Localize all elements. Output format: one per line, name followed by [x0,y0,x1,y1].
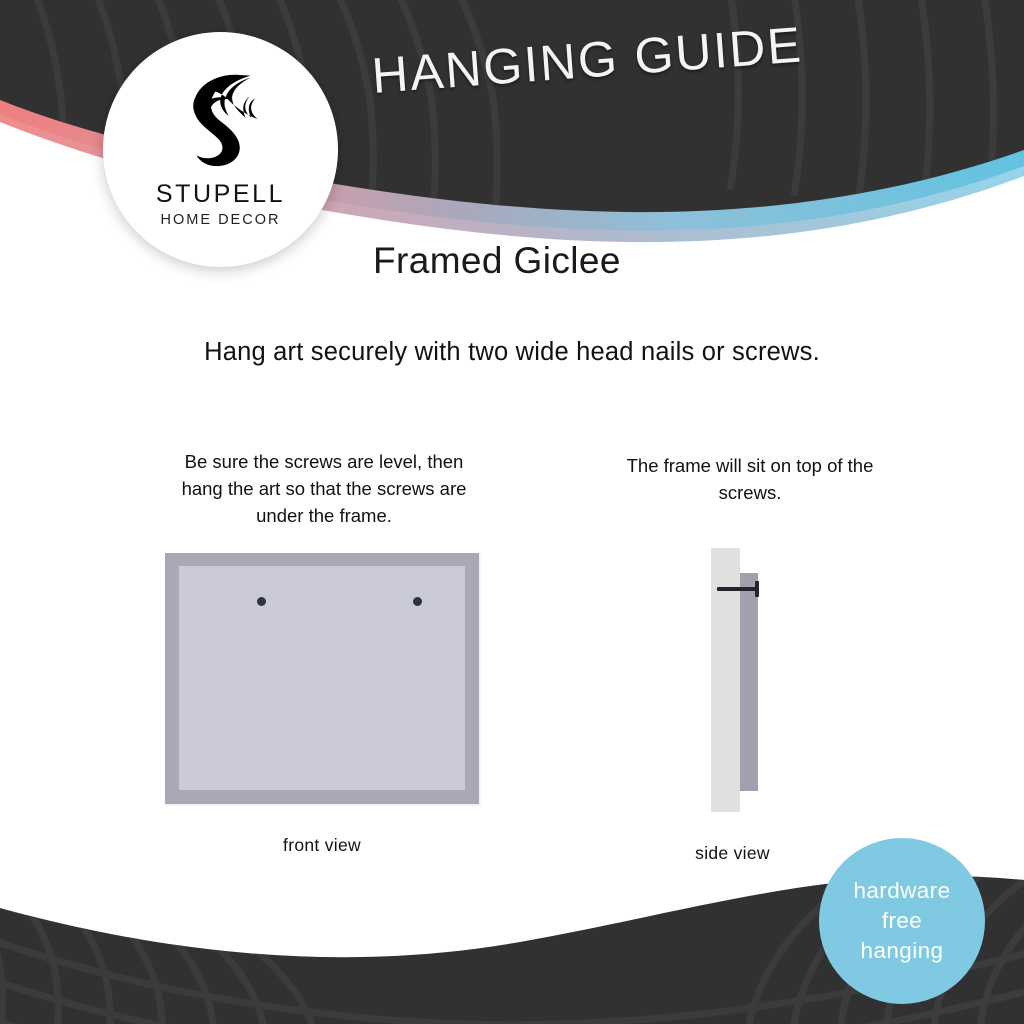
hardware-free-hanging-badge: hardware free hanging [819,838,985,1004]
front-view-label: front view [165,835,479,856]
nail-shaft-icon [717,587,759,591]
brand-logo-badge: STUPELL HOME DECOR [103,32,338,267]
frame-cross-section [740,573,758,791]
side-view-caption: The frame will sit on top of the screws. [608,452,892,506]
front-view-caption: Be sure the screws are level, then hang … [166,448,482,529]
badge-line-2: free [882,906,922,936]
picture-frame-mat [179,566,465,790]
main-instruction-text: Hang art securely with two wide head nai… [0,338,1024,367]
badge-line-1: hardware [853,876,950,906]
picture-frame-border [165,553,479,804]
screw-dot-right [413,597,422,606]
front-view-diagram [165,553,479,804]
product-type-label: Framed Giclee [373,240,621,282]
side-view-label: side view [640,843,825,864]
hanging-guide-page: STUPELL HOME DECOR HANGING GUIDE Framed … [0,0,1024,1024]
brand-tagline: HOME DECOR [161,213,281,228]
screw-dot-left [257,597,266,606]
nail-head-icon [755,581,759,597]
brand-name: STUPELL [156,182,285,207]
page-title: HANGING GUIDE [370,15,805,104]
badge-line-3: hanging [861,936,944,966]
stupell-swoosh-logo-icon [162,56,280,174]
